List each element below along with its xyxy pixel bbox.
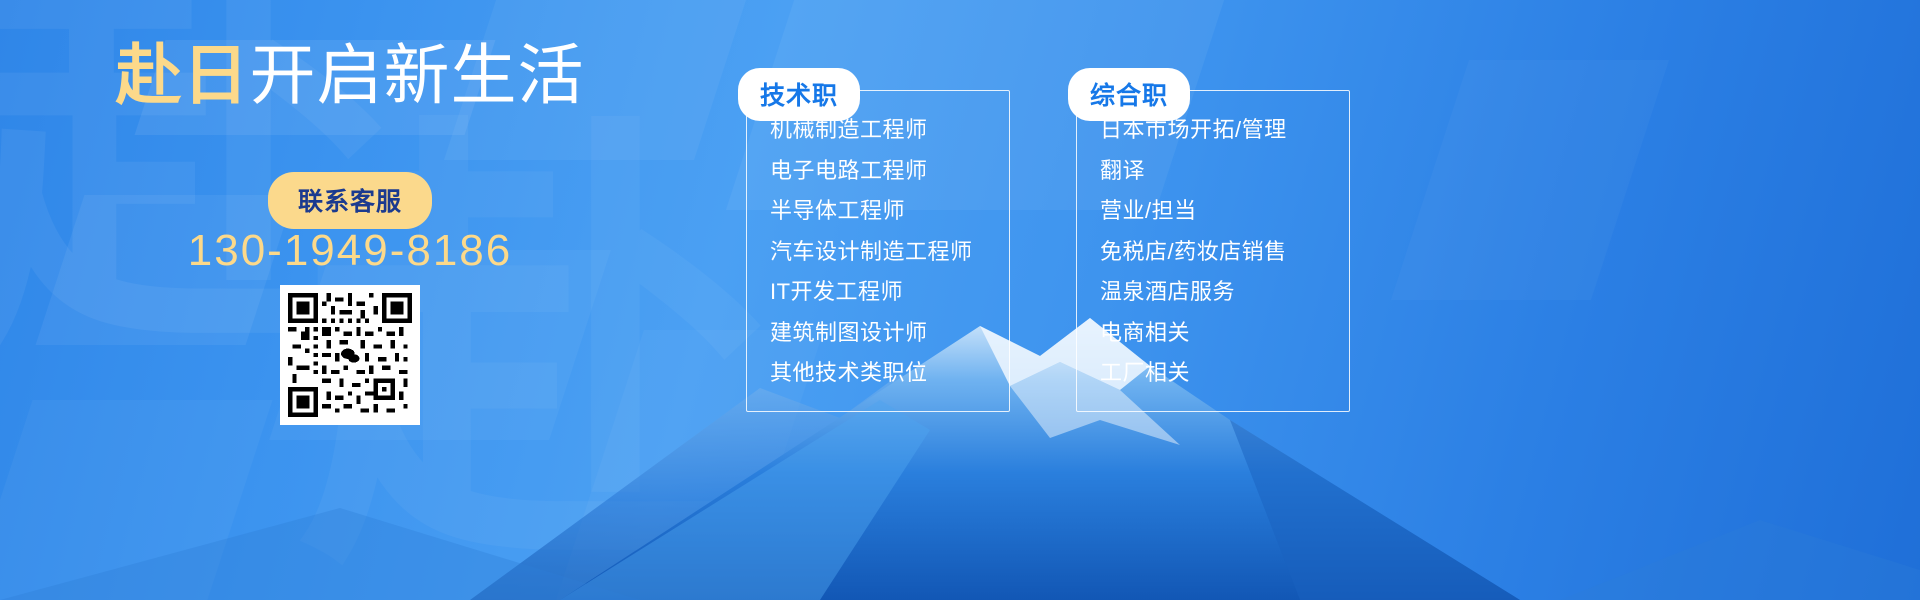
job-column-badge-general[interactable]: 综合职 [1068, 68, 1190, 121]
list-item[interactable]: 电商相关 [1100, 313, 1287, 354]
list-item[interactable]: 半导体工程师 [770, 191, 973, 232]
headline-accent: 赴日 [116, 38, 250, 112]
job-column-badge-technical[interactable]: 技术职 [738, 68, 860, 121]
list-item[interactable]: 免税店/药妆店销售 [1100, 232, 1287, 273]
qr-code-image [288, 293, 412, 417]
left-content-block: 赴日开启新生活 联系客服 130-1949-8186 [0, 0, 700, 600]
recruitment-banner: 赴 赴 [0, 0, 1920, 600]
list-item[interactable]: IT开发工程师 [770, 272, 973, 313]
job-list-general: 日本市场开拓/管理 翻译 营业/担当 免税店/药妆店销售 温泉酒店服务 电商相关… [1100, 110, 1287, 394]
list-item[interactable]: 温泉酒店服务 [1100, 272, 1287, 313]
page-title: 赴日开启新生活 [0, 42, 700, 108]
list-item[interactable]: 翻译 [1100, 151, 1287, 192]
qr-code[interactable] [280, 285, 420, 425]
contact-service-button[interactable]: 联系客服 [268, 172, 432, 229]
list-item[interactable]: 工厂相关 [1100, 353, 1287, 394]
job-list-technical: 机械制造工程师 电子电路工程师 半导体工程师 汽车设计制造工程师 IT开发工程师… [770, 110, 973, 394]
list-item[interactable]: 营业/担当 [1100, 191, 1287, 232]
decor-slab-8 [1391, 60, 1669, 300]
headline-rest: 开启新生活 [250, 38, 585, 112]
phone-number[interactable]: 130-1949-8186 [0, 226, 700, 276]
list-item[interactable]: 建筑制图设计师 [770, 313, 973, 354]
list-item[interactable]: 汽车设计制造工程师 [770, 232, 973, 273]
list-item[interactable]: 其他技术类职位 [770, 353, 973, 394]
list-item[interactable]: 电子电路工程师 [770, 151, 973, 192]
